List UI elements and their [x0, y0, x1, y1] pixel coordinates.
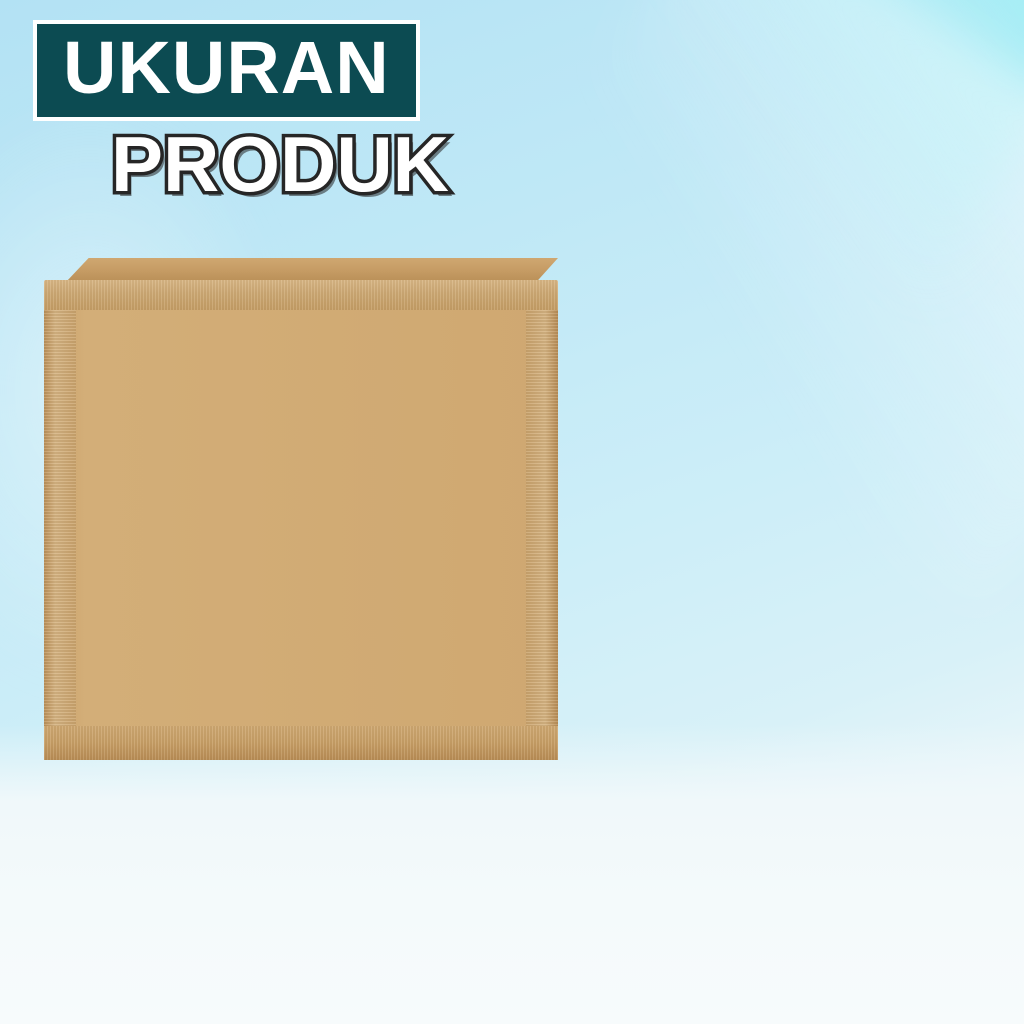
title-block: UKURAN PRODUK	[33, 20, 449, 203]
cabinet-left-panel	[44, 310, 76, 760]
cabinet-right-panel	[526, 310, 558, 760]
produk-row: PRODUK	[111, 125, 449, 203]
infographic-canvas: UKURAN PRODUK 35,5 CM 48,5 CM 40 CM DETA…	[0, 0, 1024, 1024]
cabinet-bottom-rail	[44, 726, 558, 760]
ukuran-box: UKURAN	[37, 24, 416, 117]
product-illustration-nightstand	[44, 258, 558, 898]
cabinet-body	[44, 310, 558, 760]
cabinet-top-surface	[66, 258, 558, 282]
cabinet-middle-shelf	[66, 505, 536, 535]
cabinet-top-edge	[44, 280, 558, 312]
ukuran-box-frame: UKURAN	[33, 20, 420, 121]
title-line-produk: PRODUK	[111, 125, 449, 203]
title-line-ukuran: UKURAN	[63, 30, 390, 105]
